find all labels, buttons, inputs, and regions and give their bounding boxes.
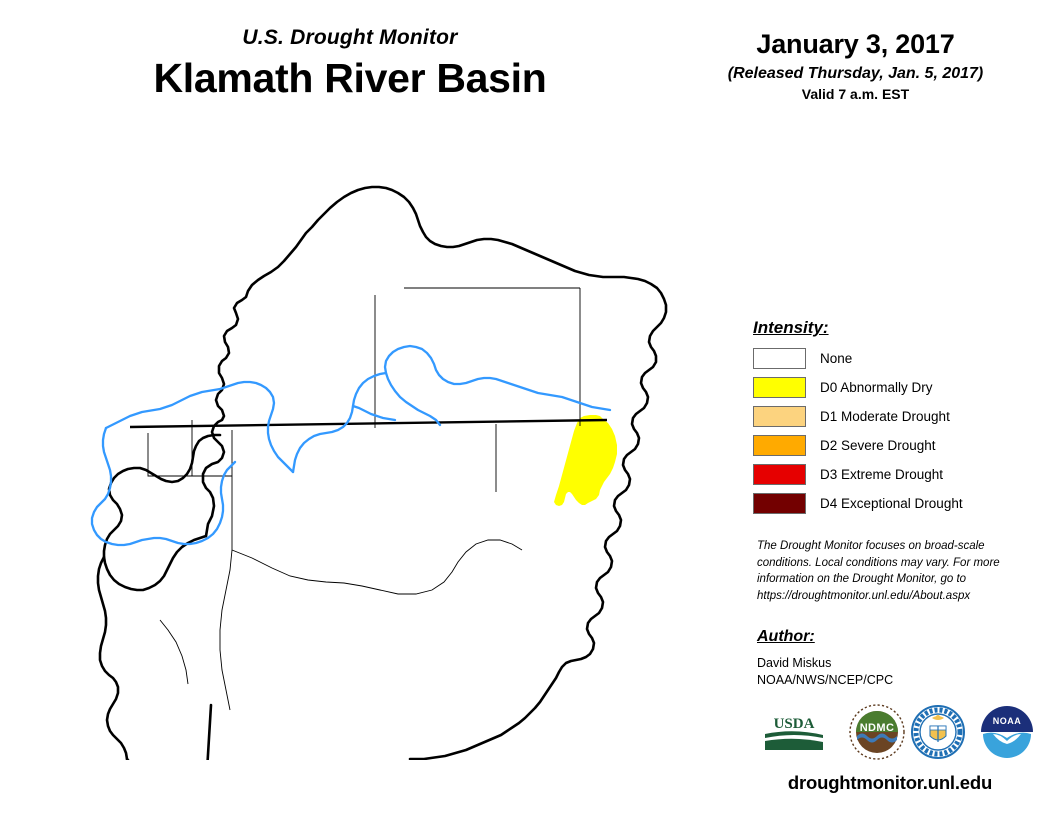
drought-area-d0 bbox=[554, 415, 617, 506]
legend-item-none: None bbox=[753, 346, 1033, 370]
legend-item-d2: D2 Severe Drought bbox=[753, 433, 1033, 457]
ndmc-logo[interactable]: NDMC bbox=[849, 704, 905, 765]
disclaimer-text: The Drought Monitor focuses on broad-sca… bbox=[757, 538, 1019, 605]
author-heading: Author: bbox=[757, 628, 1037, 646]
usda-logo-text: USDA bbox=[774, 716, 815, 732]
legend-swatch-d2 bbox=[753, 435, 806, 456]
noaa-logo[interactable]: NOAA bbox=[979, 704, 1035, 765]
valid-time: Valid 7 a.m. EST bbox=[703, 87, 1008, 102]
footer-url[interactable]: droughtmonitor.unl.edu bbox=[740, 772, 1040, 794]
basin-boundary-west bbox=[104, 435, 220, 590]
noaa-logo-text: NOAA bbox=[993, 716, 1022, 726]
date-block: January 3, 2017 (Released Thursday, Jan.… bbox=[703, 30, 1008, 103]
disclaimer-link[interactable]: https://droughtmonitor.unl.edu/About.asp… bbox=[757, 588, 1019, 605]
state-line-or-ca bbox=[130, 420, 607, 427]
title-block: U.S. Drought Monitor Klamath River Basin bbox=[110, 26, 590, 102]
disclaimer-line-1: The Drought Monitor focuses on broad-sca… bbox=[757, 538, 1019, 555]
drought-map[interactable] bbox=[0, 120, 730, 760]
legend-swatch-d4 bbox=[753, 493, 806, 514]
legend-label-none: None bbox=[820, 351, 852, 366]
ndmc-logo-text: NDMC bbox=[860, 722, 895, 734]
legend-swatch-none bbox=[753, 348, 806, 369]
author-block: Author: David Miskus NOAA/NWS/NCEP/CPC bbox=[757, 628, 1037, 689]
agency-logo-row: USDA NDMC bbox=[757, 702, 1037, 762]
disclaimer-line-3: information on the Drought Monitor, go t… bbox=[757, 571, 1019, 588]
river-network bbox=[92, 346, 610, 545]
legend-swatch-d3 bbox=[753, 464, 806, 485]
valid-date: January 3, 2017 bbox=[703, 30, 1008, 60]
legend-swatch-d1 bbox=[753, 406, 806, 427]
program-title: U.S. Drought Monitor bbox=[110, 26, 590, 49]
page-title: Klamath River Basin bbox=[110, 55, 590, 102]
legend-label-d2: D2 Severe Drought bbox=[820, 438, 936, 453]
usda-logo[interactable]: USDA bbox=[763, 712, 825, 757]
basin-boundary-tip bbox=[127, 705, 211, 760]
legend-item-d4: D4 Exceptional Drought bbox=[753, 491, 1033, 515]
commerce-seal-logo[interactable] bbox=[910, 704, 966, 765]
legend-item-d3: D3 Extreme Drought bbox=[753, 462, 1033, 486]
legend-label-d4: D4 Exceptional Drought bbox=[820, 496, 963, 511]
legend-label-d3: D3 Extreme Drought bbox=[820, 467, 943, 482]
legend-label-d1: D1 Moderate Drought bbox=[820, 409, 950, 424]
legend-swatch-d0 bbox=[753, 377, 806, 398]
legend-item-d0: D0 Abnormally Dry bbox=[753, 375, 1033, 399]
author-affiliation: NOAA/NWS/NCEP/CPC bbox=[757, 672, 1037, 689]
legend-panel: Intensity: None D0 Abnormally Dry D1 Mod… bbox=[753, 318, 1033, 520]
disclaimer-line-2: conditions. Local conditions may vary. F… bbox=[757, 555, 1019, 572]
legend-label-d0: D0 Abnormally Dry bbox=[820, 380, 933, 395]
legend-item-d1: D1 Moderate Drought bbox=[753, 404, 1033, 428]
author-name: David Miskus bbox=[757, 655, 1037, 672]
basin-boundary-south bbox=[98, 557, 127, 759]
legend-heading: Intensity: bbox=[753, 318, 1033, 338]
released-date: (Released Thursday, Jan. 5, 2017) bbox=[703, 65, 1008, 83]
